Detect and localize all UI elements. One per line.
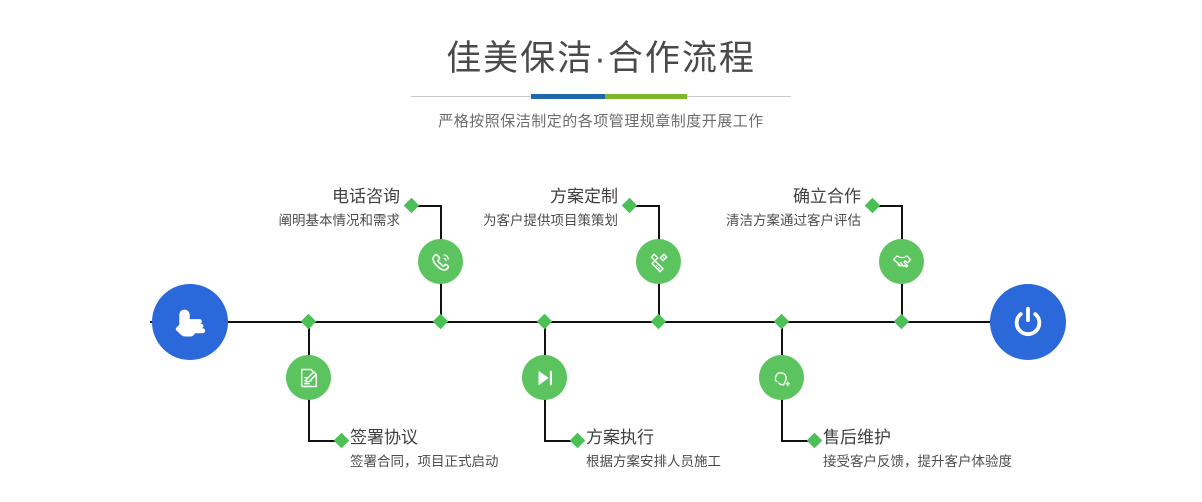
step-3-title: 方案定制	[380, 186, 618, 208]
step-1-desc: 阐明基本情况和需求	[160, 211, 400, 231]
step-1-title: 电话咨询	[160, 186, 400, 208]
step-2-axis-marker	[301, 314, 317, 330]
step-6-title: 售后维护	[823, 427, 1153, 449]
step-3-axis-marker	[651, 314, 667, 330]
step-1-label: 电话咨询 阐明基本情况和需求	[160, 186, 400, 231]
play-execute-icon	[532, 365, 558, 391]
pointing-hand-icon	[168, 300, 212, 344]
power-icon	[1006, 300, 1050, 344]
step-5-axis-marker	[894, 314, 910, 330]
step-3-label: 方案定制 为客户提供项目策策划	[380, 186, 618, 231]
step-6-label: 售后维护 接受客户反馈，提升客户体验度	[823, 427, 1153, 472]
step-5-icon[interactable]	[879, 239, 924, 284]
flow-diagram-page: 佳美保洁·合作流程 严格按照保洁制定的各项管理规章制度开展工作	[0, 0, 1202, 502]
step-2-icon[interactable]	[286, 355, 331, 400]
headset-support-icon	[769, 365, 795, 391]
step-2-label-marker	[334, 433, 350, 449]
step-5-label: 确立合作 清洁方案通过客户评估	[625, 186, 861, 231]
step-3-icon[interactable]	[636, 239, 681, 284]
step-4-icon[interactable]	[522, 355, 567, 400]
handshake-icon	[889, 249, 915, 275]
step-5-desc: 清洁方案通过客户评估	[625, 211, 861, 231]
timeline-axis	[150, 321, 1052, 323]
step-5-label-marker	[865, 198, 881, 214]
timeline-start-node	[152, 284, 228, 360]
pencil-ruler-icon	[646, 249, 672, 275]
step-4-axis-marker	[537, 314, 553, 330]
step-1-icon[interactable]	[418, 239, 463, 284]
document-edit-icon	[296, 365, 322, 391]
step-6-axis-marker	[774, 314, 790, 330]
step-3-desc: 为客户提供项目策策划	[380, 211, 618, 231]
timeline-end-node	[990, 284, 1066, 360]
step-1-axis-marker	[433, 314, 449, 330]
process-timeline: 电话咨询 阐明基本情况和需求 签署协议 签署合同，项目正式启动	[0, 0, 1202, 502]
step-5-title: 确立合作	[625, 186, 861, 208]
step-6-desc: 接受客户反馈，提升客户体验度	[823, 452, 1153, 472]
step-6-icon[interactable]	[759, 355, 804, 400]
phone-icon	[428, 249, 454, 275]
